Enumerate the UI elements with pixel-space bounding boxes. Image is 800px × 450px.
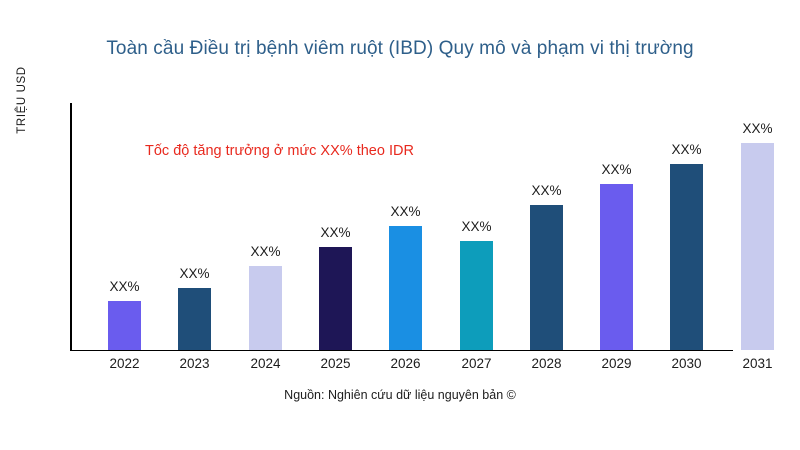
bar-2027[interactable]	[460, 241, 493, 350]
bar-2026[interactable]	[389, 226, 422, 350]
bar-2024[interactable]	[249, 266, 282, 350]
x-tick-2022: 2022	[95, 356, 155, 371]
x-tick-2025: 2025	[306, 356, 366, 371]
x-tick-2028: 2028	[517, 356, 577, 371]
x-tick-2024: 2024	[236, 356, 296, 371]
bar-series: XX%2022XX%2023XX%2024XX%2025XX%2026XX%20…	[0, 0, 800, 450]
bar-value-label-2022: XX%	[95, 279, 155, 294]
chart-page: Toàn cầu Điều trị bệnh viêm ruột (IBD) Q…	[0, 0, 800, 450]
x-tick-2026: 2026	[376, 356, 436, 371]
x-tick-2030: 2030	[657, 356, 717, 371]
bar-2023[interactable]	[178, 288, 211, 350]
bar-value-label-2030: XX%	[657, 142, 717, 157]
y-axis-line	[70, 103, 72, 351]
bar-2031[interactable]	[741, 143, 774, 350]
x-tick-2027: 2027	[447, 356, 507, 371]
cagr-annotation: Tốc độ tăng trưởng ở mức XX% theo IDR	[145, 143, 414, 159]
bar-value-label-2023: XX%	[165, 266, 225, 281]
bar-value-label-2028: XX%	[517, 183, 577, 198]
bar-value-label-2026: XX%	[376, 204, 436, 219]
plot-area: XX%2022XX%2023XX%2024XX%2025XX%2026XX%20…	[0, 0, 800, 450]
bar-value-label-2025: XX%	[306, 225, 366, 240]
bar-2030[interactable]	[670, 164, 703, 350]
source-note: Nguồn: Nghiên cứu dữ liệu nguyên bản ©	[0, 388, 800, 402]
bar-value-label-2031: XX%	[728, 121, 788, 136]
x-tick-2029: 2029	[587, 356, 647, 371]
bar-2028[interactable]	[530, 205, 563, 350]
bar-value-label-2024: XX%	[236, 244, 296, 259]
bar-2025[interactable]	[319, 247, 352, 350]
bar-value-label-2029: XX%	[587, 162, 647, 177]
x-tick-2023: 2023	[165, 356, 225, 371]
x-axis-line	[70, 350, 733, 352]
bar-value-label-2027: XX%	[447, 219, 507, 234]
x-tick-2031: 2031	[728, 356, 788, 371]
bar-2022[interactable]	[108, 301, 141, 350]
bar-2029[interactable]	[600, 184, 633, 350]
